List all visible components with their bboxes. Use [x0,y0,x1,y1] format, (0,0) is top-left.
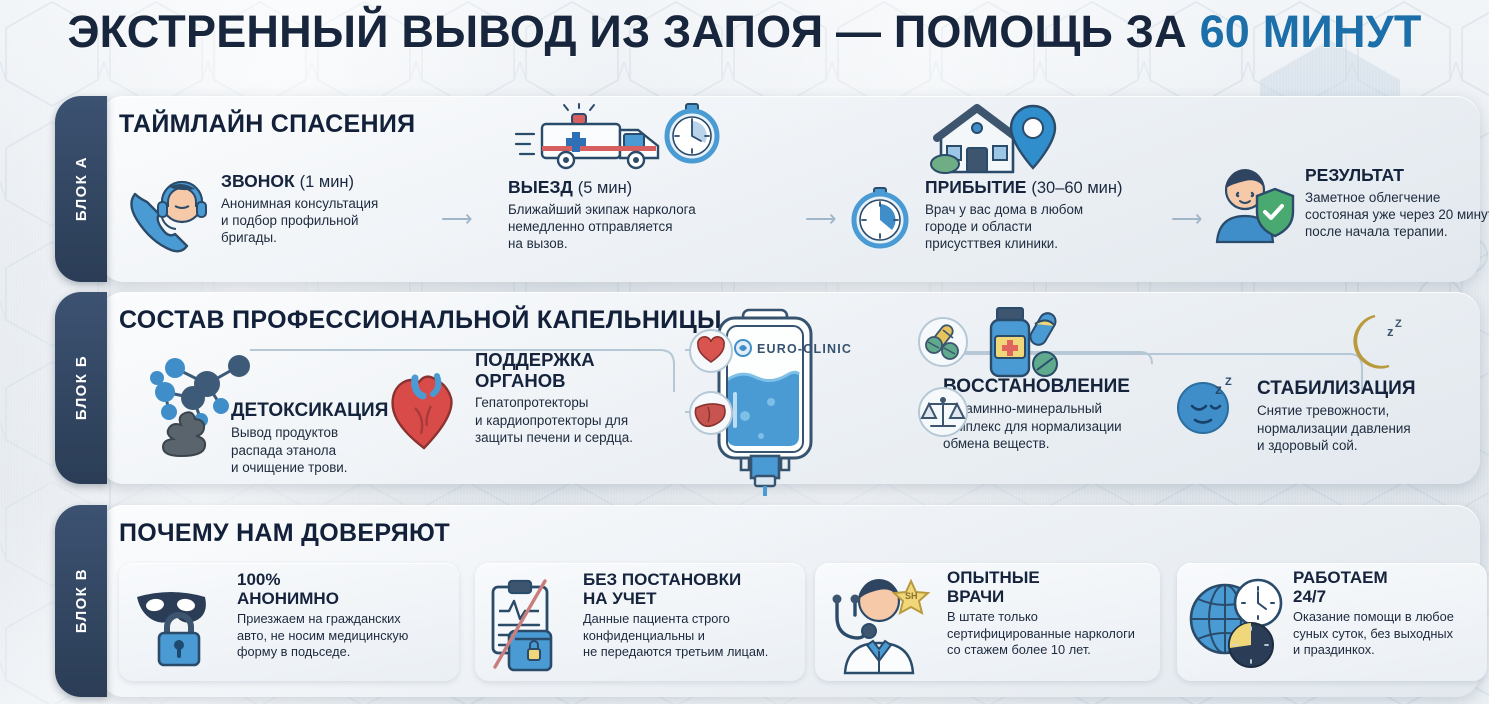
vitamins-icon [979,304,1089,382]
trust-24-7-text: Оказание помощи в любое суных суток, без… [1293,609,1489,659]
trust-card-anonymous[interactable]: 100% АНОНИМНО Приезжаем на гражданских а… [119,563,459,681]
step-call-text: Анонимная консультация и подбор профильн… [221,195,431,247]
tab-block-c-label: БЛОК В [73,568,90,633]
trust-anonymous-heading: 100% АНОНИМНО [237,571,462,608]
section-c-title: ПОЧЕМУ НАМ ДОВЕРЯЮТ [119,519,450,548]
step-result-text: Заметное облегчение состоянaя уже через … [1305,189,1489,241]
phone-headset-icon [125,176,211,252]
heart-icon [385,368,463,450]
step-departure-heading: ВЫЕЗД (5 мин) [508,178,808,198]
house-pin-icon [935,104,1065,176]
arrow-3-icon: ⟶ [1171,208,1203,230]
step-arrival-heading: ПРИБЫТИЕ (30–60 мин) [925,178,1175,198]
mask-lock-icon [131,579,227,675]
ambulance-stopwatch-icon [514,104,734,176]
liver-node-icon [688,390,734,436]
svg-text:z: z [1215,381,1222,397]
scales-node-icon [917,386,969,438]
arrow-2-icon: ⟶ [805,208,837,230]
trust-doctors-text: В штате только сертифицированные нарколо… [947,609,1162,659]
trust-anonymous-text: Приезжаем на гражданских авто, не носим … [237,611,462,661]
step-call-heading: ЗВОНОК (1 мин) [221,172,431,192]
doctor-star-icon: SH [823,573,943,675]
item-recovery-text: Витаминно-минеральный комплекс для норма… [943,400,1213,452]
title-main: ЭКСТРЕННЫЙ ВЫВОД ИЗ ЗАПОЯ — ПОМОЩЬ ЗА [67,6,1199,57]
item-stabilization-text: Снятие тревожности, нормализации давлени… [1257,402,1489,454]
trust-card-no-registration[interactable]: БЕЗ ПОСТАНОВКИ НА УЧЕТ Данные пациента с… [475,563,805,681]
moon-icon: z Z [1339,312,1409,374]
trust-24-7-heading: РАБОТАЕМ 24/7 [1293,569,1489,606]
trust-card-24-7[interactable]: РАБОТАЕМ 24/7 Оказание помощи в любое су… [1177,563,1487,681]
item-stabilization-heading: СТАБИЛИЗАЦИЯ [1257,378,1489,399]
item-recovery-heading: ВОССТАНОВЛЕНИЕ [943,376,1213,397]
trust-card-experienced-doctors[interactable]: SH ОПЫТНЫЕ ВРАЧИ В штате только сертифиц… [815,563,1160,681]
page-title: ЭКСТРЕННЫЙ ВЫВОД ИЗ ЗАПОЯ — ПОМОЩЬ ЗА 60… [0,6,1489,58]
step-departure-text: Ближайший экипаж нарколога немедленно от… [508,201,808,253]
trust-no-registration-text: Данные пациента строго конфиденциальны и… [583,611,805,661]
section-block-c: БЛОК В ПОЧЕМУ НАМ ДОВЕРЯЮТ 100% АНОНИМНО… [55,505,1480,697]
tab-block-a-label: БЛОК А [73,156,90,221]
iv-bag-brand-label: EURO-CLINIC [757,342,852,356]
clipboard-crossed-icon [485,577,577,673]
section-a-title: ТАЙМЛАЙН СПАСЕНИЯ [119,110,415,139]
tab-block-b-label: БЛОК Б [73,355,90,420]
trust-no-registration-heading: БЕЗ ПОСТАНОВКИ НА УЧЕТ [583,571,805,608]
heart-node-icon [688,328,734,374]
svg-text:SH: SH [905,591,918,601]
tab-block-a[interactable]: БЛОК А [55,96,107,282]
arrow-1-icon: ⟶ [441,208,473,230]
patient-shield-icon [1207,164,1295,244]
section-block-a: БЛОК А ТАЙМЛАЙН СПАСЕНИЯ ЗВОНОК (1 мин) … [55,96,1480,282]
stopwatch-arrival-icon [849,188,911,250]
sleep-face-icon: z Z [1175,374,1245,436]
pills-node-icon [917,316,969,368]
svg-text:Z: Z [1395,318,1402,330]
svg-text:Z: Z [1225,376,1232,388]
trust-doctors-heading: ОПЫТНЫЕ ВРАЧИ [947,569,1162,606]
step-result-heading: РЕЗУЛЬТАТ [1305,166,1489,186]
tab-block-c[interactable]: БЛОК В [55,505,107,697]
title-accent: 60 МИНУТ [1200,6,1422,57]
svg-text:z: z [1387,324,1394,339]
section-block-b: БЛОК Б СОСТАВ ПРОФЕССИОНАЛЬНОЙ КАПЕЛЬНИЦ… [55,292,1480,484]
globe-clock-icon [1185,575,1295,671]
step-arrival-text: Врач у вас дома в любом городе и области… [925,201,1175,253]
